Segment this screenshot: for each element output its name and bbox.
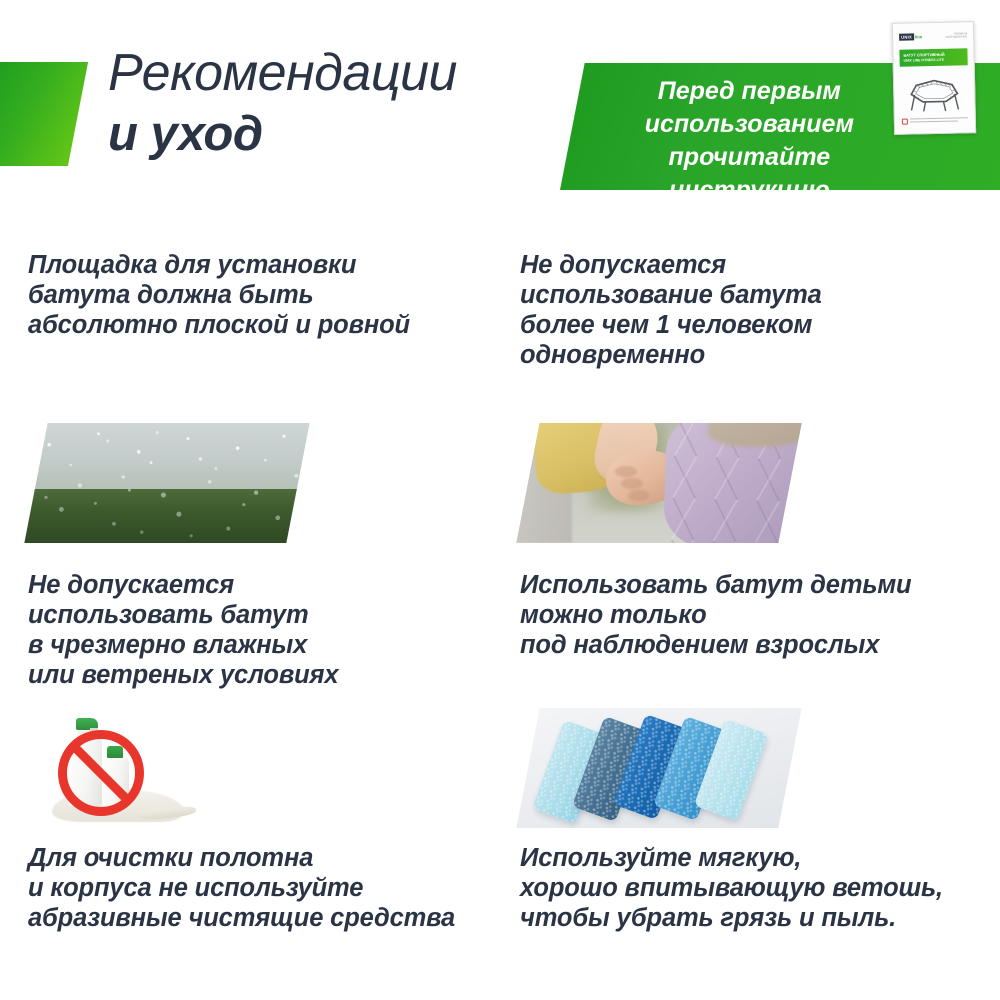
caption-line: хорошо впитывающую ветошь, <box>520 873 990 903</box>
title-line-primary: Рекомендации <box>108 44 578 102</box>
caption-line: или ветреных условиях <box>28 660 488 690</box>
caption-line: Для очистки полотна <box>28 843 488 873</box>
blue-microfiber-towels-photo <box>516 708 801 828</box>
unix-logo-suffix: line <box>915 34 922 39</box>
manual-footer-note <box>902 117 968 128</box>
green-accent-shape <box>0 62 88 166</box>
jacket-fur-hood <box>708 423 801 447</box>
rain-on-window-photo <box>24 423 309 543</box>
caption-line: использование батута <box>520 280 990 310</box>
item-one-person-only-caption: Не допускается использование батута боле… <box>520 250 990 370</box>
item-adult-supervision-caption: Использовать батут детьми можно только п… <box>520 570 990 660</box>
manual-logo-row: UNIX line ПРЕМИУМ ОБОРУДОВАНИЕ <box>899 30 967 41</box>
caption-line: Использовать батут детьми <box>520 570 990 600</box>
rain-droplets-layer-2 <box>24 423 309 543</box>
caption-line: и корпуса не используйте <box>28 873 488 903</box>
prohibited-cleaning-chemicals-icon <box>40 716 190 824</box>
caption-line: можно только <box>520 600 990 630</box>
caption-line: Не допускается <box>28 570 488 600</box>
caption-line: Используйте мягкую, <box>520 843 990 873</box>
manual-booklet-thumbnail: UNIX line ПРЕМИУМ ОБОРУДОВАНИЕ БАТУТ СПО… <box>892 21 976 135</box>
caption-line: использовать батут <box>28 600 488 630</box>
manual-footer-lines <box>910 117 968 124</box>
caption-line: более чем 1 человеком <box>520 310 990 340</box>
caption-line: в чрезмерно влажных <box>28 630 488 660</box>
caption-line: Площадка для установки <box>28 250 488 280</box>
manual-logo-note: ПРЕМИУМ ОБОРУДОВАНИЕ <box>941 32 967 39</box>
manual-title-band: БАТУТ СПОРТИВНЫЙ UNIX LINE FITNESS LITE <box>899 48 967 66</box>
caption-line: чтобы убрать грязь и пыль. <box>520 903 990 933</box>
caption-line: абсолютно плоской и ровной <box>28 310 488 340</box>
item-flat-surface-caption: Площадка для установки батута должна быт… <box>28 250 488 340</box>
caption-line: одновременно <box>520 340 990 370</box>
item-use-soft-cloth-caption: Используйте мягкую, хорошо впитывающую в… <box>520 843 990 933</box>
manual-title-line-2: UNIX LINE FITNESS LITE <box>904 57 968 63</box>
caption-line: батута должна быть <box>28 280 488 310</box>
unix-logo: UNIX <box>899 33 914 40</box>
instruction-banner-text: Перед первым использованием прочитайте и… <box>594 75 904 207</box>
item-no-abrasive-cleaners-caption: Для очистки полотна и корпуса не использ… <box>28 843 488 933</box>
infographic-page: Рекомендации и уход Перед первым использ… <box>0 0 1000 1000</box>
trampoline-illustration-icon <box>902 72 967 115</box>
adult-holding-child-hand-photo <box>516 423 801 543</box>
item-no-wet-windy-caption: Не допускается использовать батут в чрез… <box>28 570 488 690</box>
caption-line: Не допускается <box>520 250 990 280</box>
page-title: Рекомендации и уход <box>108 44 578 162</box>
warning-icon <box>902 119 908 125</box>
header: Рекомендации и уход Перед первым использ… <box>0 0 1000 200</box>
caption-line: под наблюдением взрослых <box>520 630 990 660</box>
caption-line: абразивные чистящие средства <box>28 903 488 933</box>
title-line-secondary: и уход <box>108 106 578 162</box>
